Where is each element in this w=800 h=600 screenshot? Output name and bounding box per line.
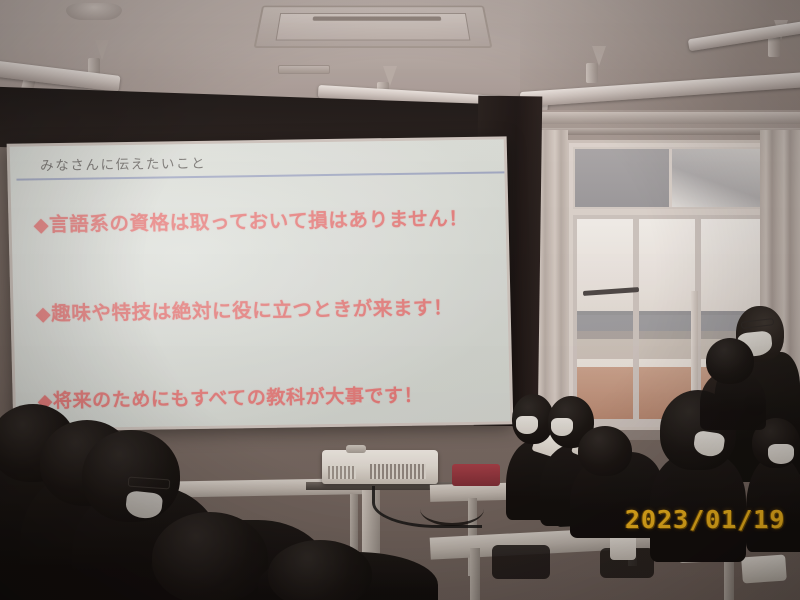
outdoor-building: [639, 331, 695, 359]
window-pane: [577, 219, 633, 419]
cable: [420, 492, 484, 526]
projector-vent: [370, 464, 426, 479]
student-head: [268, 540, 372, 600]
projector-icon: [322, 450, 438, 484]
desk-leg: [470, 548, 480, 600]
slide-title: みなさんに伝えたいこと: [40, 152, 207, 174]
projector-vent: [328, 466, 356, 479]
light-hanger-icon: [95, 40, 109, 60]
light-bracket: [586, 63, 598, 83]
slide-bullet-list: ◆言語系の資格は取っておいて損はありません！ ◆趣味や特技は絶対に役に立つときが…: [33, 191, 504, 413]
chair: [492, 545, 550, 579]
slide-bullet: ◆将来のためにもすべての教科が大事です！: [37, 379, 504, 413]
light-bracket: [768, 37, 780, 57]
ceiling-ac-vent-icon: [254, 6, 493, 48]
student-head: [578, 426, 632, 476]
outdoor-building: [577, 331, 633, 359]
window-pane: [639, 219, 695, 419]
slide-bullet: ◆趣味や特技は絶対に役に立つときが来ます！: [35, 290, 502, 326]
student-body: [746, 456, 800, 552]
face-mask-icon: [551, 418, 573, 436]
curtain-rail: [534, 112, 800, 124]
outdoor-sky: [639, 219, 695, 315]
red-tray: [452, 464, 500, 486]
date-stamp: 2023/01/19: [625, 505, 786, 534]
projector-lens-icon: [346, 445, 366, 453]
classroom-photo: みなさんに伝えたいこと ◆言語系の資格は取っておいて損はありません！ ◆趣味や特…: [0, 0, 800, 600]
ac-vent-louver: [313, 16, 442, 20]
face-mask-icon: [516, 416, 538, 434]
white-item: [741, 554, 787, 583]
slide-surface: みなさんに伝えたいこと ◆言語系の資格は取っておいて損はありません！ ◆趣味や特…: [10, 139, 511, 428]
face-mask-icon: [768, 444, 794, 464]
ceiling-dome-speaker-icon: [66, 3, 122, 20]
transom-pane-right: [669, 149, 763, 207]
outdoor-sky: [577, 219, 633, 315]
ceiling-air-diffuser-icon: [278, 65, 330, 74]
screen-frame: みなさんに伝えたいこと ◆言語系の資格は取っておいて損はありません！ ◆趣味や特…: [7, 136, 514, 431]
student-head: [706, 338, 754, 384]
projection-screen: みなさんに伝えたいこと ◆言語系の資格は取っておいて損はありません！ ◆趣味や特…: [7, 136, 514, 431]
slide-bullet: ◆言語系の資格は取っておいて損はありません！: [33, 201, 500, 237]
student-head: [152, 512, 268, 600]
window-transom: [573, 147, 765, 209]
outdoor-sky: [701, 219, 761, 315]
transom-mullion: [669, 149, 672, 207]
